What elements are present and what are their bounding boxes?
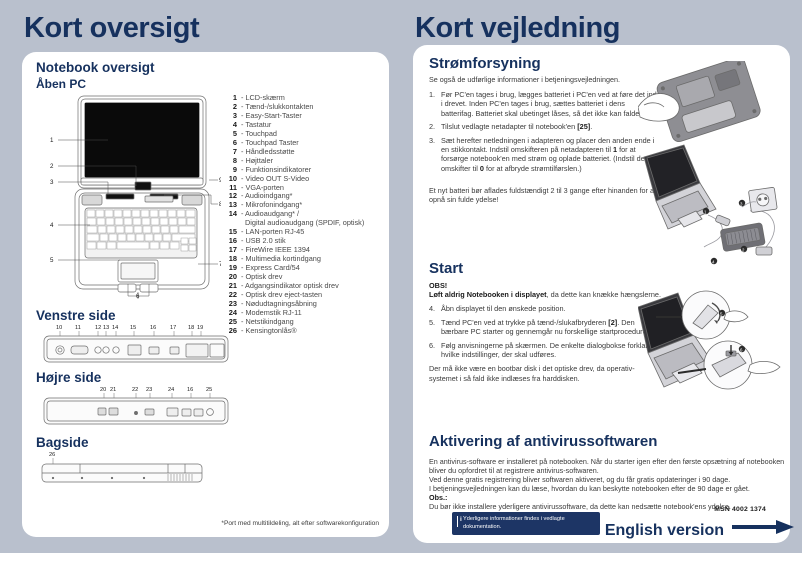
- svg-text:18: 18: [188, 325, 194, 331]
- start-block: Start OBS! Løft aldrig Notebooken i disp…: [429, 260, 661, 383]
- part-label: - Kensingtonlås®: [237, 327, 297, 336]
- left-side-ports-diagram: 1011 121314 151617 1819: [40, 322, 232, 368]
- step-number: 6.: [429, 341, 435, 350]
- step-number: 3.: [429, 136, 435, 145]
- svg-text:2: 2: [50, 163, 54, 170]
- start-illustration: 5 6: [638, 273, 786, 423]
- notebook-overview-heading: Notebook oversigt: [36, 60, 155, 75]
- power-supply-lead: Se også de udførlige informationer i bet…: [429, 75, 657, 84]
- step-text: Tilslut vedlagte netadapter til notebook…: [441, 122, 592, 131]
- step-text: Sæt herefter netledningen i adapteren og…: [441, 136, 657, 173]
- bottom-strip: [0, 553, 802, 567]
- svg-text:6: 6: [136, 293, 140, 299]
- svg-text:15: 15: [130, 325, 136, 331]
- open-notebook-diagram: 1 2 3 4 5 6 7 8 9: [46, 94, 221, 299]
- parts-list-item: 14- Audioaudgang* /Digital audioaudgang …: [224, 210, 404, 228]
- power-supply-heading: Strømforsyning: [429, 55, 657, 72]
- svg-text:20: 20: [100, 387, 106, 393]
- svg-text:7: 7: [219, 261, 221, 268]
- info-icon: i: [457, 516, 462, 527]
- step-text: Følg anvisningerne på skærmen. De enkelt…: [441, 341, 656, 359]
- start-heading: Start: [429, 260, 661, 277]
- svg-text:1: 1: [50, 137, 54, 144]
- svg-text:5: 5: [50, 257, 54, 264]
- part-number: 14: [224, 210, 237, 219]
- start-steps: 4.Åbn displayet til den ønskede position…: [429, 304, 661, 359]
- instruction-step: 4.Åbn displayet til den ønskede position…: [429, 304, 661, 313]
- svg-text:3: 3: [50, 179, 54, 186]
- step-number: 4.: [429, 304, 435, 313]
- svg-text:26: 26: [49, 452, 55, 458]
- left-column: Kort oversigt Notebook oversigt Åben PC: [0, 0, 401, 553]
- info-tooltip-text: Yderligere informationer findes i vedlag…: [463, 516, 565, 529]
- power-supply-block: Strømforsyning Se også de udførlige info…: [429, 55, 657, 204]
- step-text: Før PC'en tages i brug, lægges batteriet…: [441, 90, 657, 118]
- instruction-step: 3.Sæt herefter netledningen i adapteren …: [429, 136, 657, 174]
- svg-text:16: 16: [187, 387, 193, 393]
- svg-text:13: 13: [103, 325, 109, 331]
- antivirus-obs-label: Obs.:: [429, 493, 786, 502]
- power-setup-illustration: 1 2 3 4: [638, 61, 786, 271]
- back-side-heading: Bagside: [36, 435, 89, 450]
- antivirus-heading: Aktivering af antivirussoftwaren: [429, 433, 786, 450]
- antivirus-paragraph: I betjeningsvejledningen kan du læse, hv…: [429, 484, 786, 493]
- start-obs-bold: Løft aldrig Notebooken i displayet: [429, 290, 547, 299]
- svg-text:8: 8: [219, 201, 221, 208]
- svg-text:17: 17: [170, 325, 176, 331]
- step-text: Åbn displayet til den ønskede position.: [441, 304, 566, 313]
- instruction-step: 6.Følg anvisningerne på skærmen. De enke…: [429, 341, 661, 360]
- left-side-heading: Venstre side: [36, 308, 116, 323]
- svg-text:19: 19: [197, 325, 203, 331]
- english-version-label[interactable]: English version: [605, 522, 724, 540]
- svg-text:10: 10: [56, 325, 62, 331]
- start-obs-text: Løft aldrig Notebooken i displayet, da d…: [429, 290, 661, 299]
- antivirus-block: Aktivering af antivirussoftwaren En anti…: [429, 433, 786, 511]
- start-obs-label: OBS!: [429, 281, 661, 290]
- instruction-step: 1.Før PC'en tages i brug, lægges batteri…: [429, 90, 657, 118]
- svg-text:16: 16: [150, 325, 156, 331]
- svg-text:25: 25: [206, 387, 212, 393]
- instruction-step: 2.Tilslut vedlagte netadapter til notebo…: [429, 122, 657, 131]
- svg-text:4: 4: [50, 222, 54, 229]
- msn-code: MSN 4002 1374: [714, 506, 766, 513]
- step-text: Tænd PC'en ved at trykke på tænd-/slukaf…: [441, 318, 651, 336]
- info-tooltip: i Yderligere informationer findes i vedl…: [452, 512, 600, 535]
- arrow-right-icon[interactable]: [732, 520, 794, 534]
- parts-list: 1- LCD-skærm2- Tænd-/slukkontakten3- Eas…: [224, 94, 404, 336]
- svg-text:9: 9: [219, 177, 221, 184]
- antivirus-paragraphs: En antivirus-software er installeret på …: [429, 457, 786, 493]
- power-steps: 1.Før PC'en tages i brug, lægges batteri…: [429, 90, 657, 173]
- step-number: 5.: [429, 318, 435, 327]
- bootdisk-note: Der må ikke være en bootbar disk i det o…: [429, 364, 661, 382]
- right-column: Kort vejledning Strømforsyning Se også d…: [401, 0, 802, 553]
- parts-list-item: 26- Kensingtonlås®: [224, 327, 404, 336]
- footnote: *Port med multitildeling, alt efter soft…: [221, 520, 379, 527]
- step-number: 1.: [429, 90, 435, 99]
- back-side-diagram: 26: [40, 449, 220, 495]
- svg-text:11: 11: [75, 325, 81, 331]
- left-page-title: Kort oversigt: [24, 12, 199, 45]
- right-card: Strømforsyning Se også de udførlige info…: [413, 45, 790, 543]
- open-pc-heading: Åben PC: [36, 77, 86, 91]
- svg-text:21: 21: [110, 387, 116, 393]
- battery-note: Et nyt batteri bør aflades fuldstændigt …: [429, 186, 657, 204]
- antivirus-paragraph: En antivirus-software er installeret på …: [429, 457, 786, 475]
- quickstart-page: Kort oversigt Notebook oversigt Åben PC: [0, 0, 802, 567]
- right-side-ports-diagram: 2021 2223 241625: [40, 384, 232, 430]
- right-page-title: Kort vejledning: [415, 12, 620, 45]
- svg-text:23: 23: [146, 387, 152, 393]
- svg-text:24: 24: [168, 387, 174, 393]
- step-number: 2.: [429, 122, 435, 131]
- antivirus-paragraph: Ved denne gratis registrering bliver sof…: [429, 475, 786, 484]
- svg-text:14: 14: [112, 325, 118, 331]
- right-side-heading: Højre side: [36, 370, 101, 385]
- svg-text:12: 12: [95, 325, 101, 331]
- svg-text:22: 22: [132, 387, 138, 393]
- instruction-step: 5.Tænd PC'en ved at trykke på tænd-/sluk…: [429, 318, 661, 337]
- left-card: Notebook oversigt Åben PC: [22, 52, 389, 537]
